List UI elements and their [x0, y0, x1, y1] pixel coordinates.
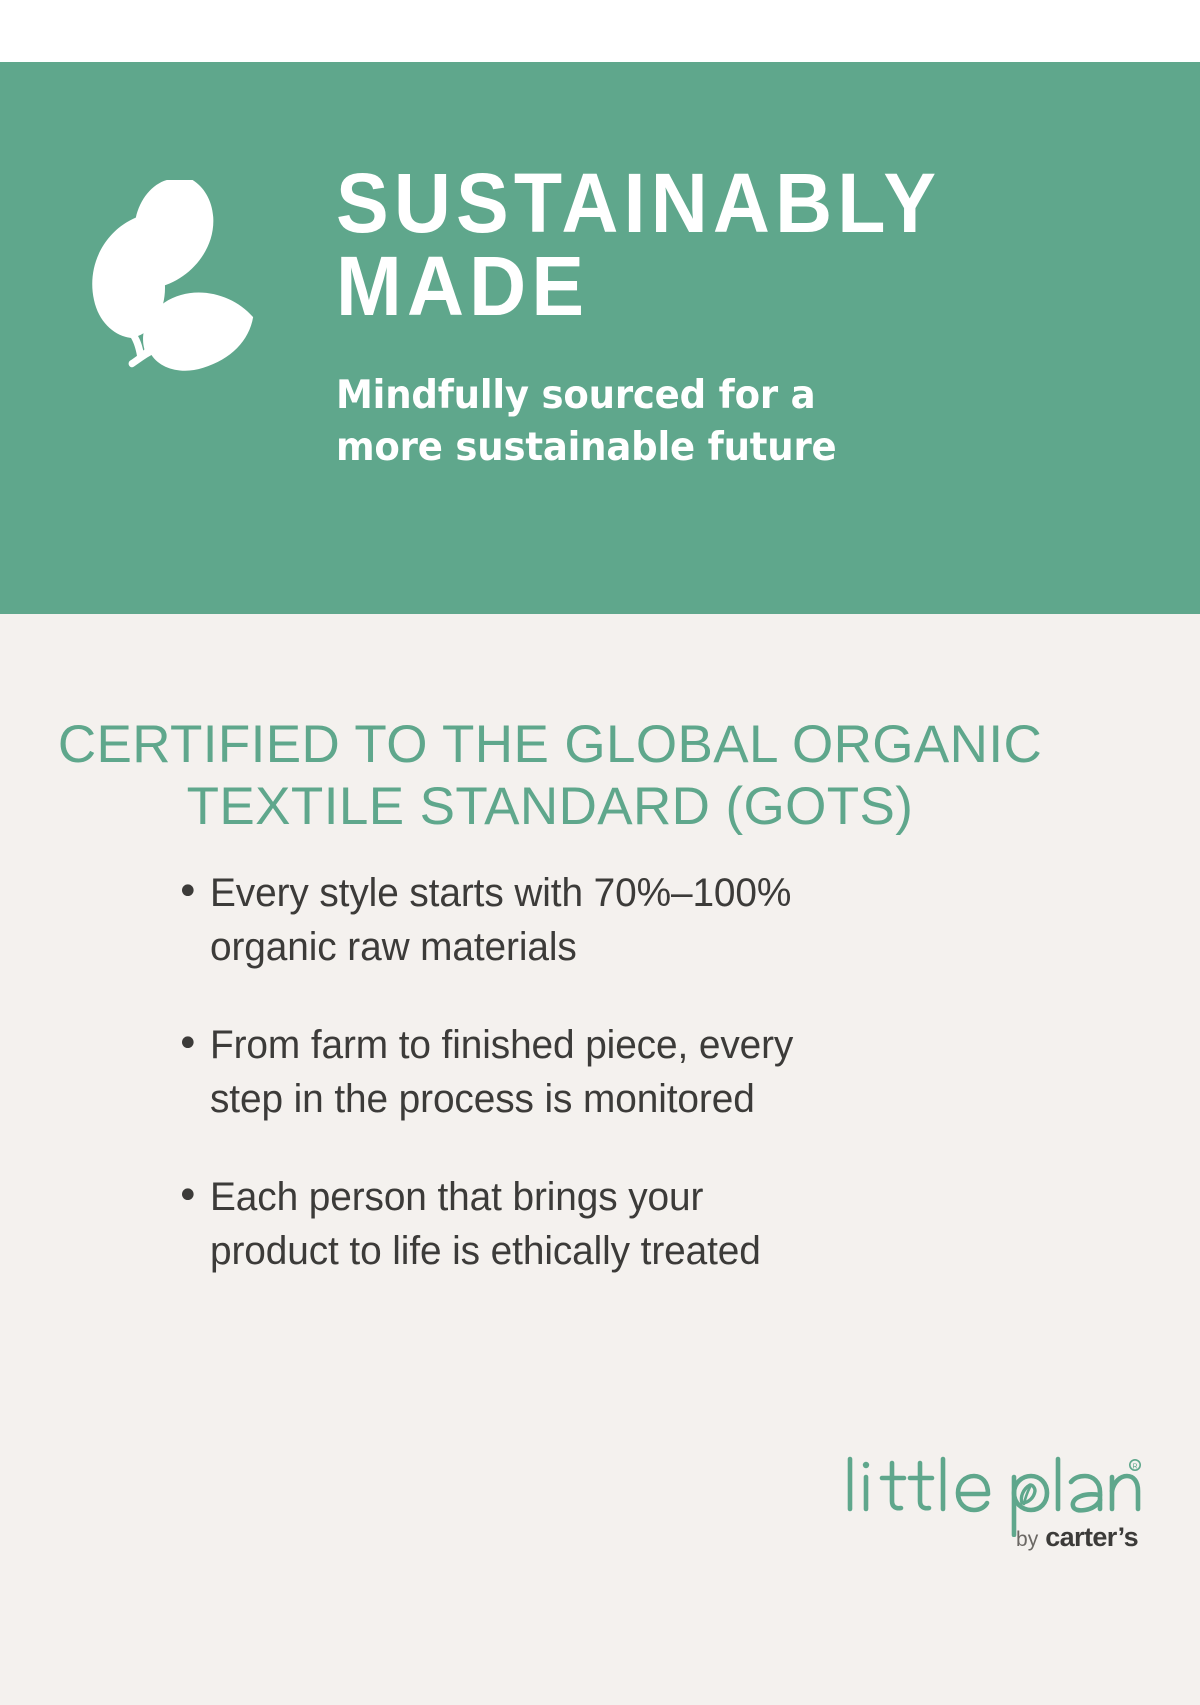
- brand-by-label: by: [1016, 1528, 1038, 1552]
- bullet-marker-icon: •: [176, 866, 210, 919]
- list-item: • Every style starts with 70%–100% organ…: [176, 866, 966, 974]
- list-item-text: Each person that brings your product to …: [210, 1170, 761, 1278]
- bullet-marker-icon: •: [176, 1170, 210, 1223]
- svg-text:R: R: [1132, 1464, 1137, 1471]
- parent-brand-name: carter’s: [1045, 1522, 1138, 1553]
- infographic-page: SUSTAINABLY MADE Mindfully sourced for a…: [0, 0, 1200, 1705]
- page-title: SUSTAINABLY MADE: [336, 162, 1088, 328]
- hero-text-block: SUSTAINABLY MADE Mindfully sourced for a…: [336, 162, 1136, 474]
- list-item: • From farm to finished piece, every ste…: [176, 1018, 966, 1126]
- brand-lockup: R by carter’s: [842, 1451, 1142, 1537]
- leaf-icon: [1021, 1485, 1035, 1504]
- bullet-marker-icon: •: [176, 1018, 210, 1071]
- list-item-text: From farm to finished piece, every step …: [210, 1018, 793, 1126]
- certification-bullet-list: • Every style starts with 70%–100% organ…: [176, 866, 966, 1278]
- list-item-text: Every style starts with 70%–100% organic…: [210, 866, 791, 974]
- hero-subtitle: Mindfully sourced for a more sustainable…: [336, 370, 1096, 474]
- section-heading: CERTIFIED TO THE GLOBAL ORGANIC TEXTILE …: [40, 714, 1060, 838]
- top-white-gutter: [0, 0, 1200, 62]
- list-item: • Each person that brings your product t…: [176, 1170, 966, 1278]
- hero-banner: SUSTAINABLY MADE Mindfully sourced for a…: [0, 62, 1200, 614]
- certification-panel: CERTIFIED TO THE GLOBAL ORGANIC TEXTILE …: [0, 614, 1200, 1705]
- three-leaves-recycle-icon: [68, 180, 268, 380]
- brand-attribution: by carter’s: [1016, 1522, 1138, 1553]
